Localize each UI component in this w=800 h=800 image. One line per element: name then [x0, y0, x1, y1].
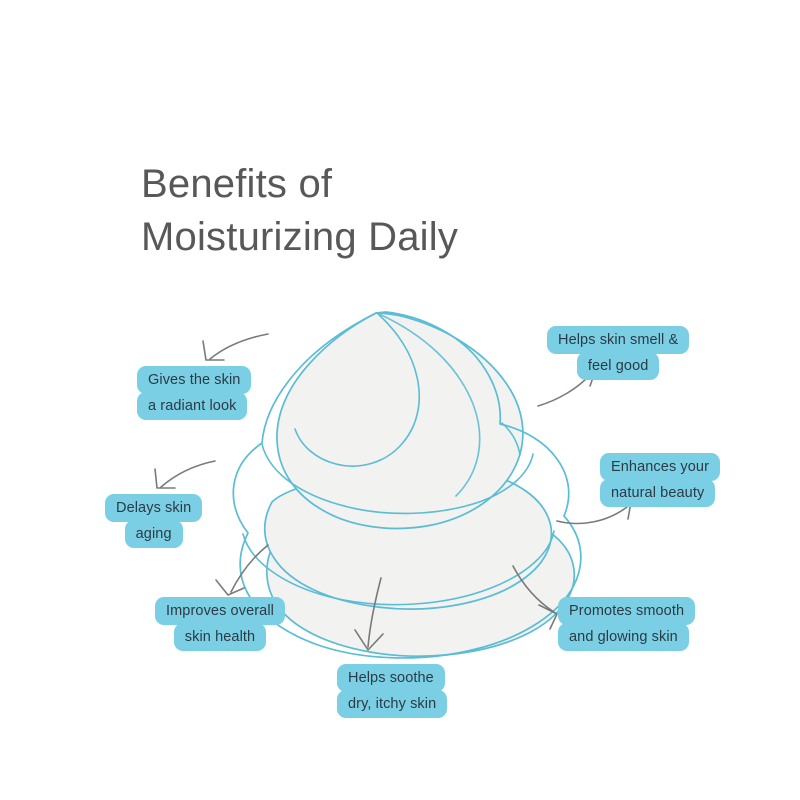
page-title: Benefits of Moisturizing Daily — [141, 158, 661, 264]
arrow-to-promotes-icon — [513, 566, 557, 629]
benefit-label-line: and glowing skin — [558, 623, 689, 651]
benefit-label-line: a radiant look — [137, 392, 247, 420]
benefit-badge-soothe[interactable]: Helps soothe dry, itchy skin — [337, 664, 447, 718]
benefit-label-line: Gives the skin — [137, 366, 251, 394]
benefit-badge-health[interactable]: Improves overall skin health — [155, 597, 285, 651]
benefit-badge-aging[interactable]: Delays skin aging — [105, 494, 202, 548]
arrow-to-radiant-icon — [203, 334, 268, 360]
arrow-to-aging-icon — [155, 461, 215, 488]
infographic-canvas: Benefits of Moisturizing Daily — [0, 0, 800, 800]
benefit-label-line: Improves overall — [155, 597, 285, 625]
benefit-badge-promotes[interactable]: Promotes smooth and glowing skin — [558, 597, 695, 651]
benefit-label-line: feel good — [577, 352, 660, 380]
cream-swirl-icon — [233, 312, 581, 658]
benefit-badge-beauty[interactable]: Enhances your natural beauty — [600, 453, 720, 507]
benefit-badge-radiant[interactable]: Gives the skin a radiant look — [137, 366, 251, 420]
benefit-label-line: Helps skin smell & — [547, 326, 689, 354]
arrow-to-soothe-icon — [355, 578, 383, 650]
benefit-label-line: Helps soothe — [337, 664, 445, 692]
benefit-label-line: natural beauty — [600, 479, 715, 507]
benefit-label-line: dry, itchy skin — [337, 690, 447, 718]
benefit-label-line: Delays skin — [105, 494, 202, 522]
arrow-to-health-icon — [216, 545, 268, 595]
benefit-label-line: aging — [125, 520, 183, 548]
benefit-label-line: Enhances your — [600, 453, 720, 481]
benefit-badge-smell[interactable]: Helps skin smell & feel good — [547, 326, 689, 380]
benefit-label-line: Promotes smooth — [558, 597, 695, 625]
benefit-label-line: skin health — [174, 623, 266, 651]
